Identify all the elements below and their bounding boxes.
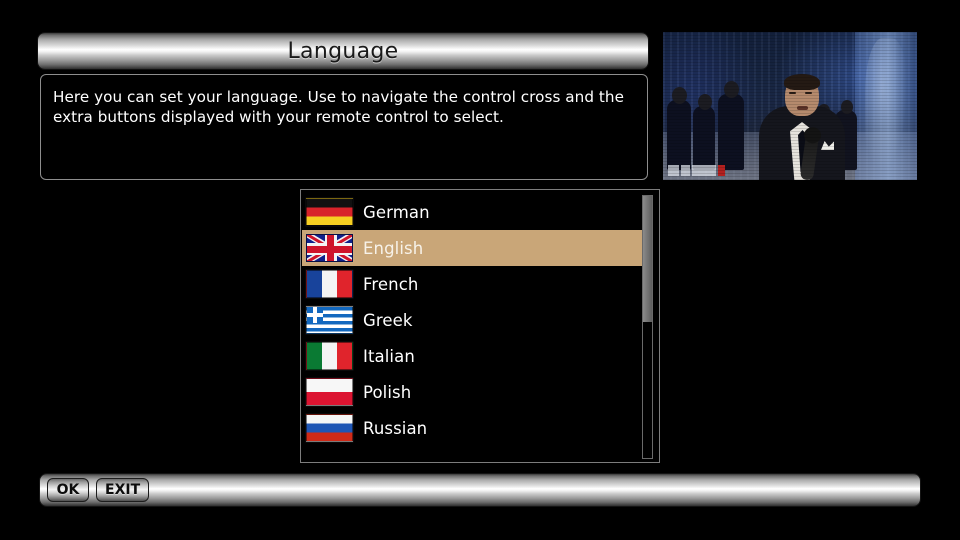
- list-item[interactable]: Russian: [302, 410, 642, 446]
- flag-poland-icon: [306, 378, 353, 406]
- flag-italy-icon: [306, 342, 353, 370]
- list-item-label: Greek: [363, 311, 413, 330]
- list-item-label: French: [363, 275, 418, 294]
- flag-france-icon: [306, 270, 353, 298]
- flag-russia-icon: [306, 414, 353, 442]
- list-item[interactable]: German: [302, 194, 642, 230]
- flag-united-kingdom-icon: [306, 234, 353, 262]
- bottom-button-bar: OK EXIT: [40, 474, 920, 506]
- description-panel: Here you can set your language. Use to n…: [40, 74, 648, 180]
- video-preview[interactable]: [663, 32, 917, 180]
- list-item-label: Russian: [363, 419, 427, 438]
- description-text: Here you can set your language. Use to n…: [53, 87, 633, 127]
- title-bar: Language: [38, 33, 648, 69]
- list-item[interactable]: Polish: [302, 374, 642, 410]
- ok-button-label: OK: [57, 482, 80, 498]
- list-item-label: Polish: [363, 383, 411, 402]
- list-item-label: Italian: [363, 347, 415, 366]
- video-scanlines: [663, 32, 917, 180]
- scrollbar-thumb[interactable]: [643, 196, 652, 322]
- list-item-label: German: [363, 203, 430, 222]
- tv-settings-screen: Language Here you can set your language.…: [0, 0, 960, 540]
- language-list: German English French Greek: [302, 194, 642, 446]
- list-item[interactable]: Italian: [302, 338, 642, 374]
- page-title: Language: [288, 39, 399, 64]
- list-item-label: English: [363, 239, 423, 258]
- ok-button[interactable]: OK: [47, 478, 89, 502]
- scrollbar[interactable]: [642, 195, 653, 459]
- flag-greece-icon: [306, 306, 353, 334]
- language-list-panel: German English French Greek: [300, 189, 660, 463]
- flag-germany-icon: [306, 198, 353, 226]
- list-item[interactable]: Greek: [302, 302, 642, 338]
- exit-button-label: EXIT: [105, 482, 140, 498]
- exit-button[interactable]: EXIT: [96, 478, 149, 502]
- list-item[interactable]: French: [302, 266, 642, 302]
- list-item[interactable]: English: [302, 230, 642, 266]
